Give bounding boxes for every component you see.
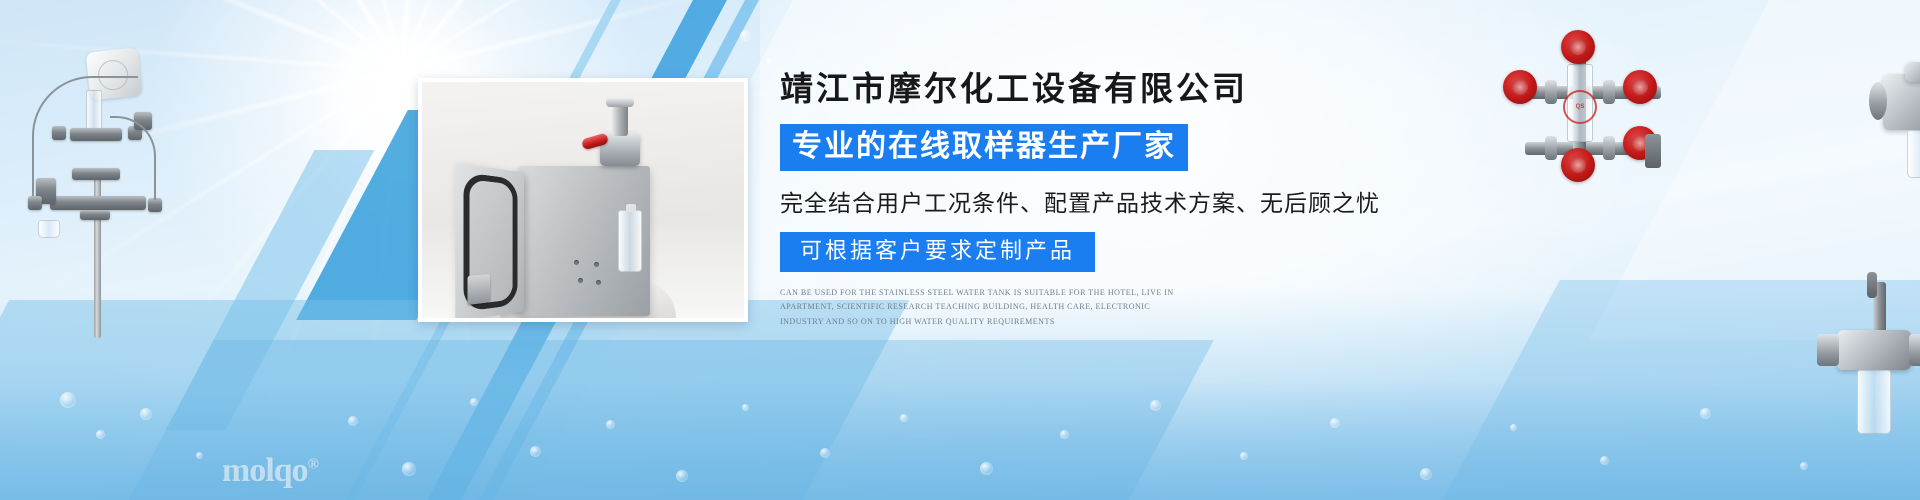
english-description: CAN BE USED FOR THE STAINLESS STEEL WATE… — [780, 286, 1185, 330]
registered-mark-icon: ® — [308, 457, 318, 473]
brand-watermark: molqo® — [222, 452, 318, 490]
quality-seal-icon: QS — [1563, 90, 1597, 124]
headline-highlight: 专业的在线取样器生产厂家 — [780, 124, 1188, 171]
right-valve-body-product — [1875, 32, 1920, 182]
center-product-photo — [418, 78, 748, 322]
banner-text-block: 靖江市摩尔化工设备有限公司 专业的在线取样器生产厂家 完全结合用户工况条件、配置… — [780, 72, 1400, 330]
watermark-text: molqo — [222, 452, 308, 489]
left-product-image — [10, 28, 190, 338]
right-cross-valve-product: QS — [1505, 42, 1675, 162]
right-inline-valve-product — [1815, 290, 1920, 460]
tagline-highlight: 可根据客户要求定制产品 — [780, 232, 1095, 271]
product-banner: QS 靖江市摩尔化工设备有限公司 专业的在线取样器生产厂家 完全结合用户工况条件… — [0, 0, 1920, 500]
subline-text: 完全结合用户工况条件、配置产品技术方案、无后顾之忧 — [780, 184, 1400, 218]
company-name: 靖江市摩尔化工设备有限公司 — [780, 72, 1400, 110]
